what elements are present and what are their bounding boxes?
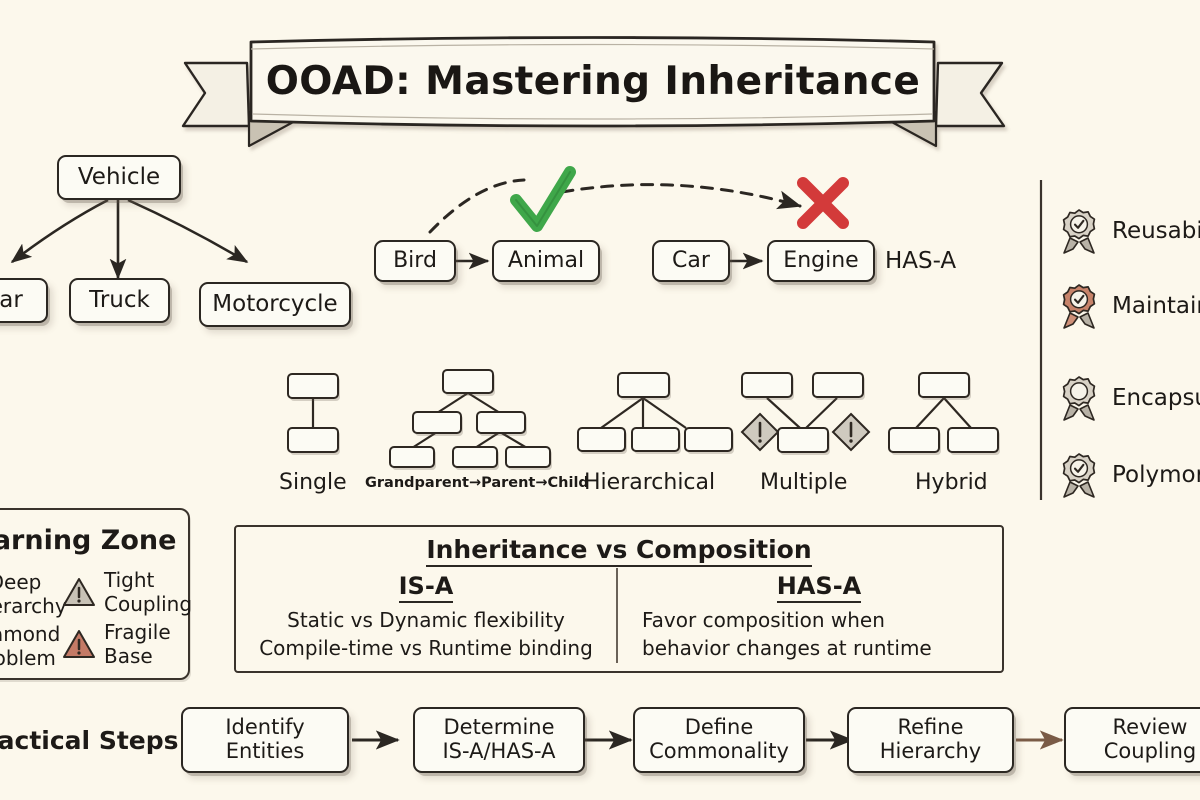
type-multilevel-node-b: [476, 411, 526, 434]
relation-box-label: Bird: [393, 249, 437, 274]
rosette-icon: [1060, 208, 1098, 254]
type-multilevel-node-root: [442, 369, 494, 394]
infographic-canvas: OOAD: Mastering Inheritance Vehicle Car …: [0, 0, 1200, 800]
warning-item-line2: Coupling: [104, 592, 192, 616]
benefit-item-reusability[interactable]: Reusability: [1060, 208, 1200, 254]
comparison-right-heading: HAS-A: [777, 572, 861, 603]
type-multilevel-node-a: [412, 411, 462, 434]
check-icon: [516, 172, 570, 226]
step-line2: IS-A/HAS-A: [442, 740, 555, 764]
comparison-right-column: HAS-A Favor composition when behavior ch…: [624, 572, 996, 662]
class-box-car[interactable]: Car: [0, 278, 48, 323]
warning-zone-heading: Warning Zone: [0, 525, 176, 556]
type-label-multiple: Multiple: [760, 470, 847, 495]
type-single-node-child: [287, 427, 339, 453]
step-box-review-coupling[interactable]: Review Coupling: [1064, 707, 1200, 773]
type-multilevel-node-d: [452, 446, 498, 468]
type-multiple-node-child: [777, 427, 829, 453]
type-label-multilevel: Grandparent→Parent→Child: [365, 475, 589, 491]
type-hybrid-node-left: [888, 427, 940, 453]
relation-box-bird[interactable]: Bird: [374, 240, 456, 282]
warning-triangle-icon: [62, 629, 96, 660]
benefit-label: Encapsulation: [1112, 385, 1200, 411]
warning-item-line1: Tight: [104, 568, 192, 592]
step-line2: Entities: [226, 740, 305, 764]
relation-box-label: Car: [672, 249, 710, 274]
step-line2: Commonality: [649, 740, 789, 764]
step-line1: Define: [685, 716, 754, 740]
warning-item-fragile-base[interactable]: Fragile Base: [62, 620, 171, 668]
type-hierarchical-node-b: [631, 427, 680, 452]
benefit-label: Maintainability: [1112, 293, 1200, 319]
rosette-icon: [1060, 452, 1098, 498]
class-box-label: Car: [0, 288, 23, 314]
type-hierarchical-node-a: [577, 427, 626, 452]
warning-item-line1: Fragile: [104, 620, 171, 644]
comparison-left-heading: IS-A: [399, 572, 454, 603]
warning-item-line1: Diamond: [0, 622, 60, 646]
step-line1: Refine: [897, 716, 963, 740]
relation-dashed-arcs: [430, 180, 800, 232]
class-box-label: Vehicle: [78, 165, 160, 191]
warning-item-line1: Deep: [0, 570, 60, 594]
type-hybrid-node-root: [918, 372, 970, 398]
comparison-heading: Inheritance vs Composition: [234, 535, 1004, 564]
type-multiple-node-parent-b: [812, 372, 864, 398]
warning-item-line2: Hierarchy: [0, 594, 60, 618]
type-multiple-node-parent-a: [741, 372, 793, 398]
warning-item-line2: Base: [104, 644, 171, 668]
title-ribbon: OOAD: Mastering Inheritance: [243, 33, 943, 151]
rosette-icon: [1060, 375, 1098, 421]
comparison-heading-text: Inheritance vs Composition: [426, 535, 811, 567]
warning-item-line2: Problem: [0, 646, 60, 670]
relation-box-engine[interactable]: Engine: [767, 240, 875, 282]
vehicle-hierarchy-arrows: [12, 200, 247, 278]
benefit-label: Polymorphism: [1112, 462, 1200, 488]
comparison-left-column: IS-A Static vs Dynamic flexibility Compi…: [240, 572, 612, 662]
relation-box-car[interactable]: Car: [652, 240, 730, 282]
step-box-identify-entities[interactable]: Identify Entities: [181, 707, 349, 773]
type-hybrid-node-right: [947, 427, 999, 453]
type-label-hierarchical: Hierarchical: [584, 470, 715, 495]
step-box-define-commonality[interactable]: Define Commonality: [633, 707, 805, 773]
rosette-icon: [1060, 283, 1098, 329]
relation-box-label: Animal: [508, 249, 584, 274]
warning-item-tight-coupling[interactable]: Tight Coupling: [62, 568, 192, 616]
type-hierarchical-node-c: [684, 427, 733, 452]
warning-triangle-icon: [62, 577, 96, 608]
type-hierarchical-node-root: [617, 372, 670, 398]
class-box-truck[interactable]: Truck: [69, 278, 170, 323]
benefit-item-encapsulation[interactable]: Encapsulation: [1060, 375, 1200, 421]
step-line1: Determine: [443, 716, 554, 740]
step-line1: Identify: [225, 716, 304, 740]
benefit-item-maintainability[interactable]: Maintainability: [1060, 283, 1200, 329]
class-box-label: Truck: [89, 288, 150, 314]
step-box-determine-isa-hasa[interactable]: Determine IS-A/HAS-A: [413, 707, 585, 773]
step-line1: Review: [1113, 716, 1188, 740]
step-line2: Hierarchy: [880, 740, 982, 764]
type-multilevel-node-e: [505, 446, 551, 468]
type-label-hybrid: Hybrid: [915, 470, 988, 495]
type-multilevel-node-c: [389, 446, 435, 468]
cross-icon: [803, 183, 843, 223]
practical-steps-label: Practical Steps: [0, 726, 179, 755]
type-single-node-parent: [287, 373, 339, 399]
class-box-motorcycle[interactable]: Motorcycle: [199, 282, 351, 327]
benefit-label: Reusability: [1112, 218, 1200, 244]
warning-item-diamond-problem[interactable]: Diamond Problem: [0, 622, 60, 670]
relation-box-animal[interactable]: Animal: [492, 240, 600, 282]
comparison-left-line-1: Static vs Dynamic flexibility: [240, 606, 612, 634]
class-box-label: Motorcycle: [212, 292, 337, 318]
relation-box-label: Engine: [783, 249, 858, 274]
comparison-right-line-2: behavior changes at runtime: [642, 634, 996, 662]
class-box-vehicle[interactable]: Vehicle: [57, 155, 181, 200]
step-line2: Coupling: [1104, 740, 1196, 764]
step-box-refine-hierarchy[interactable]: Refine Hierarchy: [847, 707, 1014, 773]
warning-item-deep-hierarchy[interactable]: Deep Hierarchy: [0, 570, 60, 618]
benefit-item-polymorphism[interactable]: Polymorphism: [1060, 452, 1200, 498]
has-a-label: HAS-A: [885, 248, 956, 274]
page-title: OOAD: Mastering Inheritance: [243, 33, 943, 151]
comparison-left-line-2: Compile-time vs Runtime binding: [240, 634, 612, 662]
comparison-right-line-1: Favor composition when: [642, 606, 996, 634]
type-label-single: Single: [279, 470, 347, 495]
